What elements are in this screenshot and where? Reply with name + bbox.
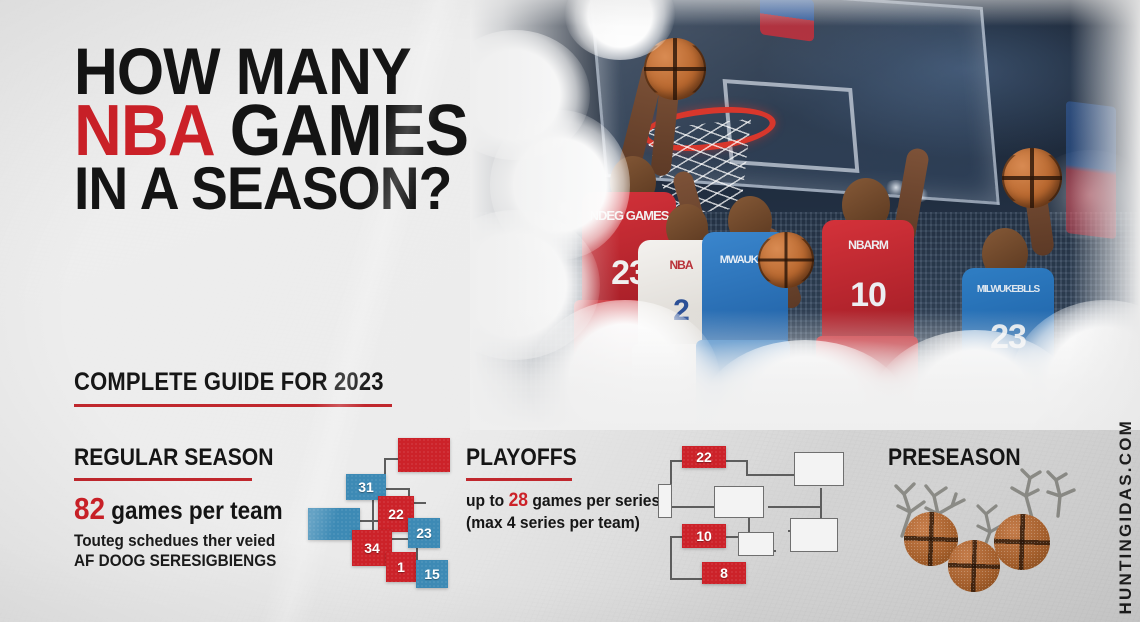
ball-texture bbox=[994, 514, 1050, 570]
bracket-box: 1 bbox=[386, 552, 416, 582]
bracket-left: 31 22 34 23 1 15 bbox=[316, 434, 456, 594]
playoffs-prefix: up to bbox=[466, 491, 504, 510]
playoffs-suffix: games per series bbox=[532, 491, 660, 510]
bracket-box bbox=[794, 452, 844, 486]
headline: HOW MANY NBA GAMES IN A SEASON? bbox=[74, 42, 468, 216]
bracket-box-label bbox=[659, 485, 671, 517]
bracket-box-label: 23 bbox=[408, 518, 440, 548]
guide-subtitle-block: COMPLETE GUIDE FOR 2023 bbox=[74, 368, 426, 407]
preseason-illustration bbox=[890, 478, 1090, 608]
bracket-box-label bbox=[791, 519, 837, 551]
regular-season-number: 82 bbox=[74, 491, 105, 526]
bracket-box-label bbox=[398, 438, 450, 472]
jersey-text: MILWUKEBLLS bbox=[962, 284, 1054, 295]
playoffs-line-2: (max 4 series per team) bbox=[466, 513, 650, 533]
regular-season-block: REGULAR SEASON 82 games per team Touteg … bbox=[74, 444, 304, 570]
playoffs-underline bbox=[466, 478, 572, 481]
basketball bbox=[1002, 148, 1062, 208]
bracket-line bbox=[768, 506, 820, 508]
bracket-box: 10 bbox=[682, 524, 726, 548]
regular-season-stat: 82 games per team bbox=[74, 491, 281, 527]
guide-subtitle: COMPLETE GUIDE FOR 2023 bbox=[74, 368, 384, 397]
bracket-line bbox=[670, 506, 718, 508]
bracket-line bbox=[746, 474, 794, 476]
bracket-box bbox=[738, 532, 774, 556]
bracket-box: 23 bbox=[408, 518, 440, 548]
playoffs-heading: PLAYOFFS bbox=[466, 444, 642, 472]
bracket-box bbox=[790, 518, 838, 552]
bracket-box-label bbox=[739, 533, 773, 555]
ball-texture bbox=[948, 540, 1000, 592]
infographic-canvas: NDEG GAMES 23 NBA 2 MWAUKEE bbox=[0, 0, 1140, 622]
photo-fade-bottom bbox=[470, 310, 1140, 430]
bracket-line bbox=[384, 488, 408, 490]
bracket-line bbox=[724, 460, 746, 462]
regular-season-underline bbox=[74, 478, 252, 481]
basketball bbox=[758, 232, 814, 288]
headline-line-2: NBA GAMES bbox=[74, 100, 468, 163]
playoffs-number: 28 bbox=[509, 490, 528, 511]
bracket-line bbox=[670, 536, 672, 578]
photo-fade-top bbox=[470, 0, 1140, 26]
bracket-box-label: 8 bbox=[702, 562, 746, 584]
bracket-box-label: 10 bbox=[682, 524, 726, 548]
bracket-box: 15 bbox=[416, 560, 448, 588]
bracket-line bbox=[746, 460, 748, 474]
regular-season-heading: REGULAR SEASON bbox=[74, 444, 276, 472]
bracket-box bbox=[714, 486, 764, 518]
playoffs-line-1: up to 28 games per series bbox=[466, 490, 650, 513]
basketball-action-photo: NDEG GAMES 23 NBA 2 MWAUKEE bbox=[470, 0, 1140, 430]
basketball-icon bbox=[994, 514, 1050, 570]
watermark: HUNTINGIDAS.COM bbox=[1116, 419, 1136, 614]
regular-season-stat-text: games per team bbox=[111, 497, 282, 525]
jersey-text: NBARM bbox=[822, 238, 914, 252]
basketball-icon bbox=[948, 540, 1000, 592]
regular-season-note-2: AF DOOG SERESIGBIENGS bbox=[74, 551, 281, 571]
bracket-box: 22 bbox=[682, 446, 726, 468]
bracket-box-label: 1 bbox=[386, 552, 416, 582]
bracket-box: 8 bbox=[702, 562, 746, 584]
guide-underline bbox=[74, 404, 392, 407]
bracket-box bbox=[658, 484, 672, 518]
bracket-right: 22 10 8 bbox=[664, 440, 844, 590]
headline-line-3: IN A SEASON? bbox=[74, 163, 468, 216]
bracket-box-label bbox=[795, 453, 843, 485]
bracket-box-label: 15 bbox=[416, 560, 448, 588]
bracket-box bbox=[398, 438, 450, 472]
antler-icon bbox=[998, 466, 1088, 522]
bracket-box-label: 22 bbox=[682, 446, 726, 468]
regular-season-note-1: Touteg schedues ther veied bbox=[74, 531, 281, 551]
bracket-box-label bbox=[715, 487, 763, 517]
playoffs-block: PLAYOFFS up to 28 games per series (max … bbox=[466, 444, 666, 533]
